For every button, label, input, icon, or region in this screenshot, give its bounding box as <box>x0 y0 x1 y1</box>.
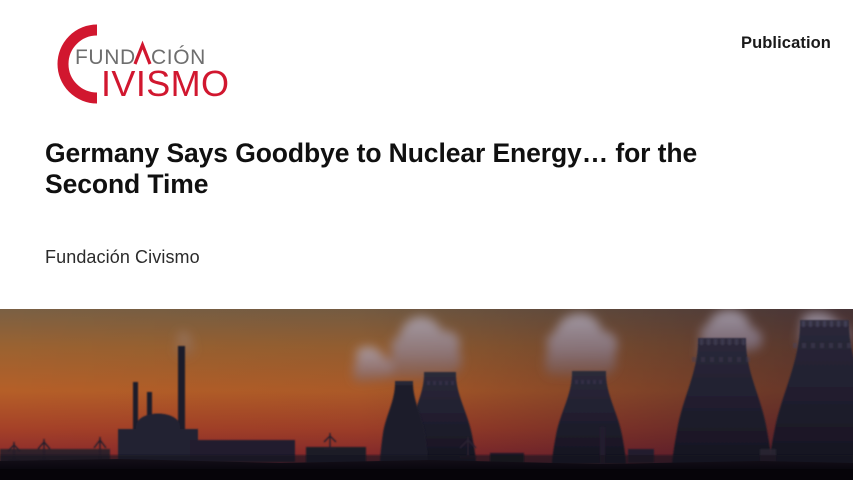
logo-accent-a-icon <box>135 45 150 64</box>
logo-ivismo-text: IVISMO <box>101 63 229 104</box>
fundacion-civismo-logo: FUND CIÓN IVISMO <box>45 20 235 105</box>
ground-shadow <box>0 469 853 480</box>
hero-image <box>0 309 853 480</box>
hero-illustration <box>0 309 853 480</box>
header: FUND CIÓN IVISMO Publication <box>0 0 853 120</box>
publication-label: Publication <box>741 34 831 53</box>
page-subtitle: Fundación Civismo <box>45 201 785 268</box>
publication-slide: FUND CIÓN IVISMO Publication Germany Say… <box>0 0 853 480</box>
title-block: Germany Says Goodbye to Nuclear Energy… … <box>45 138 785 268</box>
page-title: Germany Says Goodbye to Nuclear Energy… … <box>45 138 780 201</box>
logo-svg: FUND CIÓN IVISMO <box>45 20 235 105</box>
